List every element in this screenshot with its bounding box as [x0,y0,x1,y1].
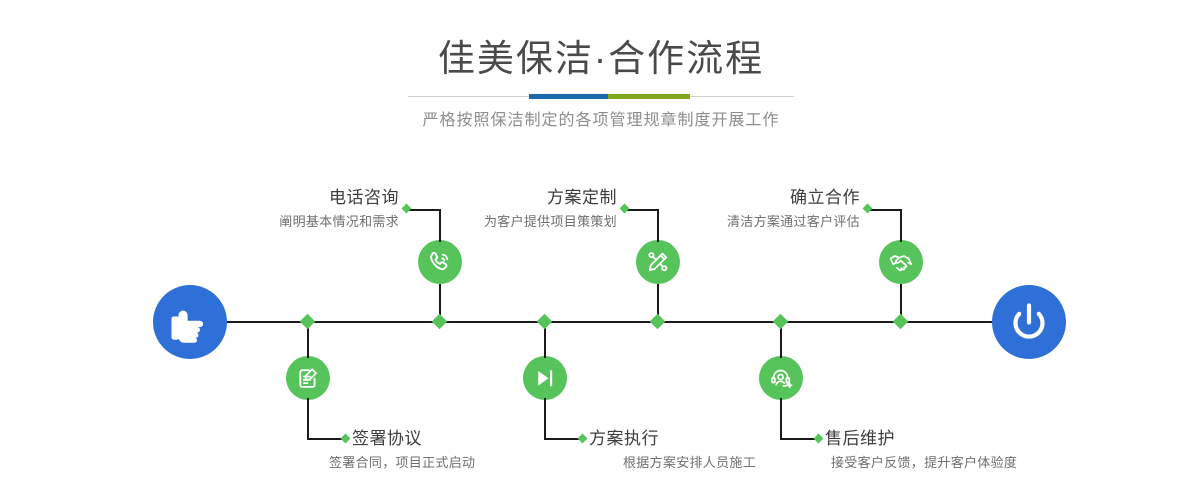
step-label-6: 售后维护 接受客户反馈，提升客户体验度 [825,428,1017,473]
connector-vline-3 [657,210,659,242]
axis-diamond-6 [773,314,789,330]
phone-call-icon [427,249,453,275]
step-desc-6: 接受客户反馈，提升客户体验度 [831,453,1017,473]
connector-vline-2b [307,398,309,439]
step-title-6: 售后维护 [825,428,1017,450]
document-edit-icon [296,366,321,391]
support-headset-icon [769,366,794,391]
connector-hline-2 [307,438,344,440]
step-desc-3: 为客户提供项目策策划 [421,212,617,232]
axis-diamond-2 [300,314,316,330]
step-label-1: 电话咨询 阐明基本情况和需求 [203,187,399,232]
step-desc-2: 签署合同，项目正式启动 [329,453,475,473]
step-icon-1[interactable] [418,240,462,284]
connector-vline-6b [780,398,782,439]
divider-segment-blue [529,94,608,99]
step-title-4: 方案执行 [589,428,756,450]
step-title-3: 方案定制 [421,187,617,209]
step-icon-6[interactable] [759,356,803,400]
step-title-1: 电话咨询 [203,187,399,209]
step-desc-4: 根据方案安排人员施工 [623,453,756,473]
step-label-4: 方案执行 根据方案安排人员施工 [589,428,756,473]
step-label-5: 确立合作 清洁方案通过客户评估 [664,187,860,232]
timeline-end-badge [992,285,1066,359]
connector-hline-3 [626,209,659,211]
connector-vline-5 [900,210,902,242]
label-diamond-3 [620,204,630,214]
divider-segment-green [608,94,690,99]
page-title: 佳美保洁·合作流程 [0,36,1202,82]
step-desc-5: 清洁方案通过客户评估 [664,212,860,232]
step-title-2: 签署协议 [352,428,475,450]
step-icon-3[interactable] [636,240,680,284]
power-button-icon [992,285,1066,359]
connector-hline-4 [544,438,581,440]
connector-hline-5 [869,209,902,211]
label-diamond-6 [814,434,824,444]
axis-diamond-1 [432,314,448,330]
step-desc-1: 阐明基本情况和需求 [203,212,399,232]
axis-diamond-5 [893,314,909,330]
step-icon-5[interactable] [879,240,923,284]
axis-diamond-3 [650,314,666,330]
label-diamond-5 [863,204,873,214]
label-diamond-1 [402,204,412,214]
process-flow-infographic: 佳美保洁·合作流程 严格按照保洁制定的各项管理规章制度开展工作 [0,0,1202,502]
label-diamond-4 [578,434,588,444]
step-icon-2[interactable] [286,356,330,400]
handshake-icon [888,249,915,276]
pencil-design-icon [645,249,671,275]
header: 佳美保洁·合作流程 严格按照保洁制定的各项管理规章制度开展工作 [0,0,1202,132]
timeline-start-badge [153,285,227,359]
axis-diamond-4 [537,314,553,330]
connector-vline-4b [544,398,546,439]
step-label-2: 签署协议 签署合同，项目正式启动 [352,428,475,473]
title-divider [408,96,794,97]
step-label-3: 方案定制 为客户提供项目策策划 [421,187,617,232]
pointing-hand-icon [153,285,227,359]
connector-hline-6 [780,438,817,440]
label-diamond-2 [341,434,351,444]
page-subtitle: 严格按照保洁制定的各项管理规章制度开展工作 [0,110,1202,132]
step-icon-4[interactable] [523,356,567,400]
step-title-5: 确立合作 [664,187,860,209]
play-execute-icon [533,366,558,391]
